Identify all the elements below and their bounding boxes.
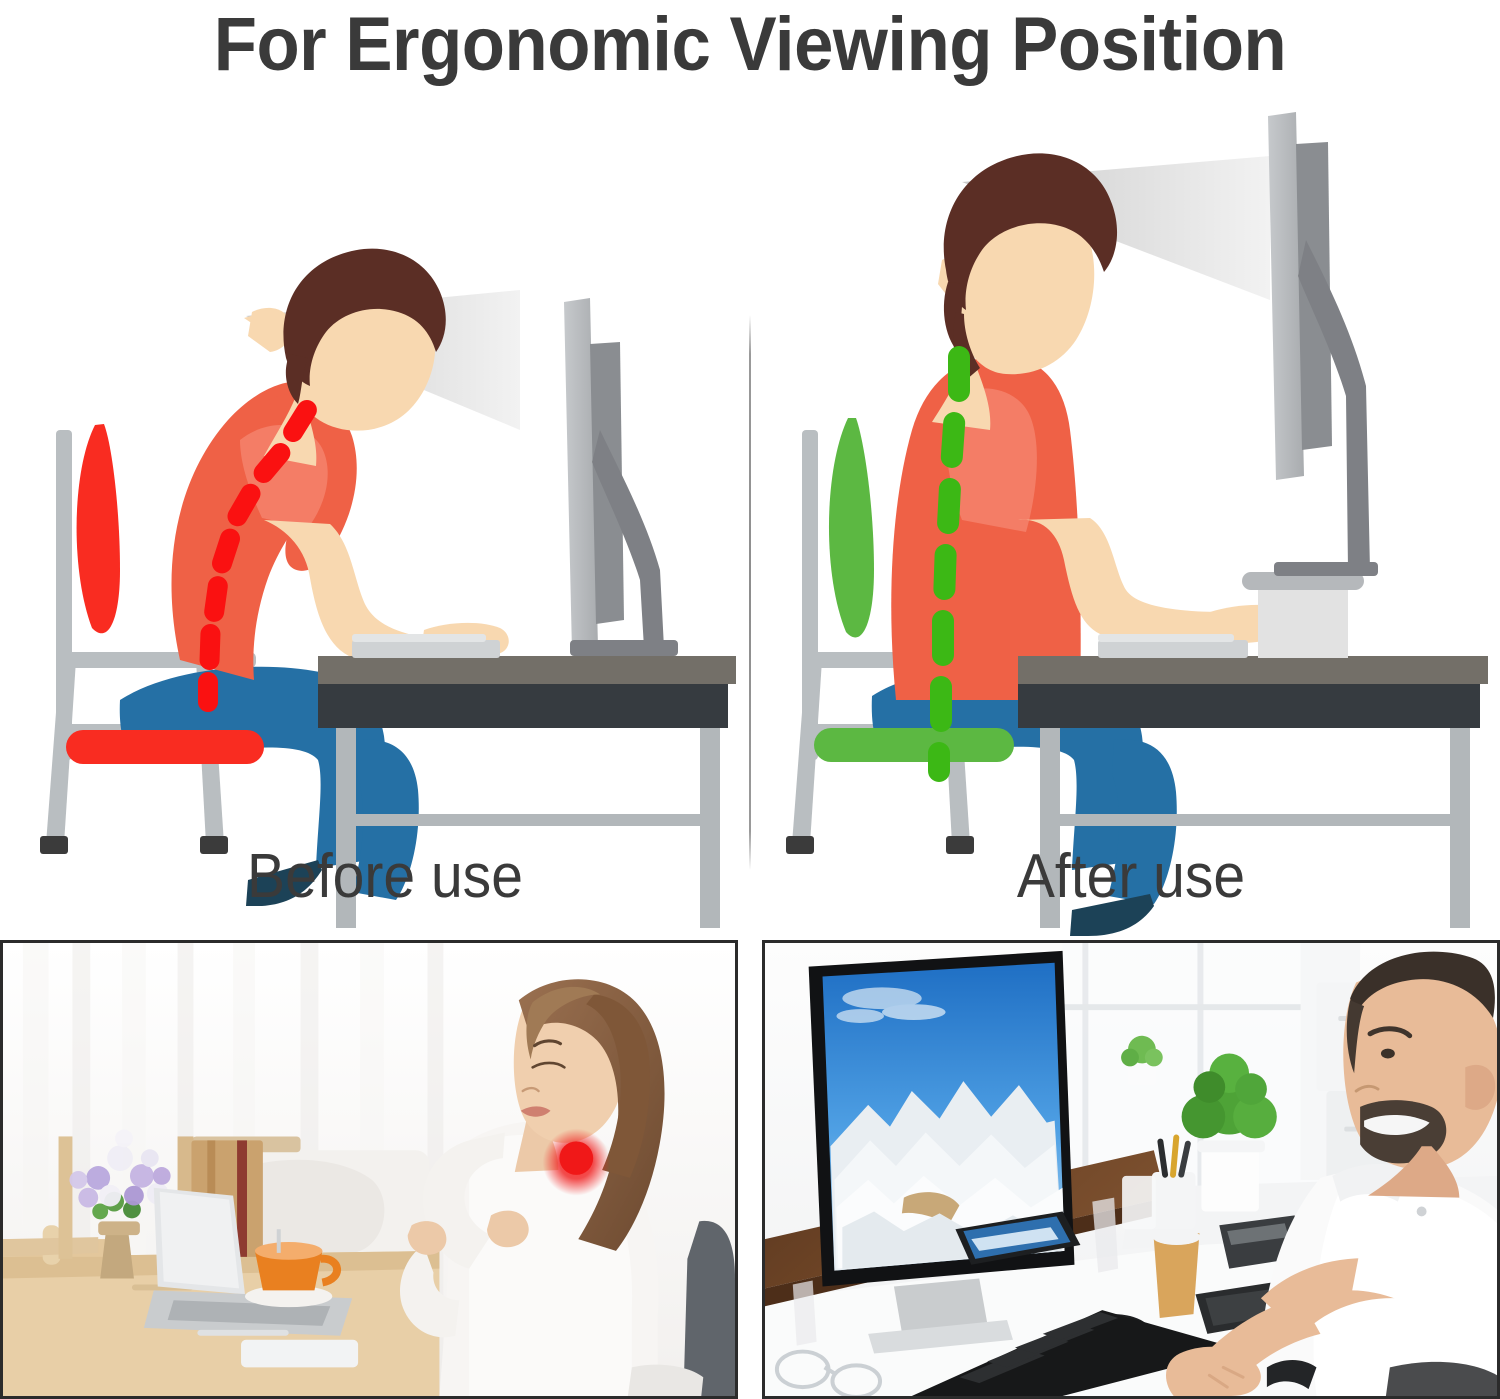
- panel-divider: [749, 315, 751, 870]
- monitor-riser: [1242, 572, 1364, 658]
- keyboard: [352, 634, 500, 658]
- photo-comparison: [0, 940, 1500, 1399]
- chair-seat-cushion: [66, 730, 264, 764]
- after-use-panel: [750, 100, 1500, 940]
- monitor: [564, 298, 678, 656]
- comparison-illustrations: Before use After use: [0, 100, 1500, 940]
- caption-before-use: Before use: [40, 842, 730, 912]
- photo-monitor-riser-in-use: [762, 940, 1500, 1399]
- before-use-panel: [0, 100, 750, 940]
- caption-after-use: After use: [786, 842, 1476, 912]
- pain-glow-icon: [543, 1129, 610, 1196]
- page-title: For Ergonomic Viewing Position: [53, 2, 1448, 88]
- phone: [241, 1340, 358, 1368]
- keyboard: [1098, 634, 1248, 658]
- chair-seat-cushion: [814, 728, 1014, 762]
- chair-backrest-cushion: [829, 418, 874, 637]
- infographic-page: For Ergonomic Viewing Position: [0, 0, 1500, 1399]
- office-chair: [683, 1221, 735, 1396]
- coffee-cup: [1153, 1229, 1201, 1318]
- photo-neck-pain: [0, 940, 738, 1399]
- chair-backrest-cushion: [77, 424, 120, 633]
- monitor: [1268, 112, 1378, 576]
